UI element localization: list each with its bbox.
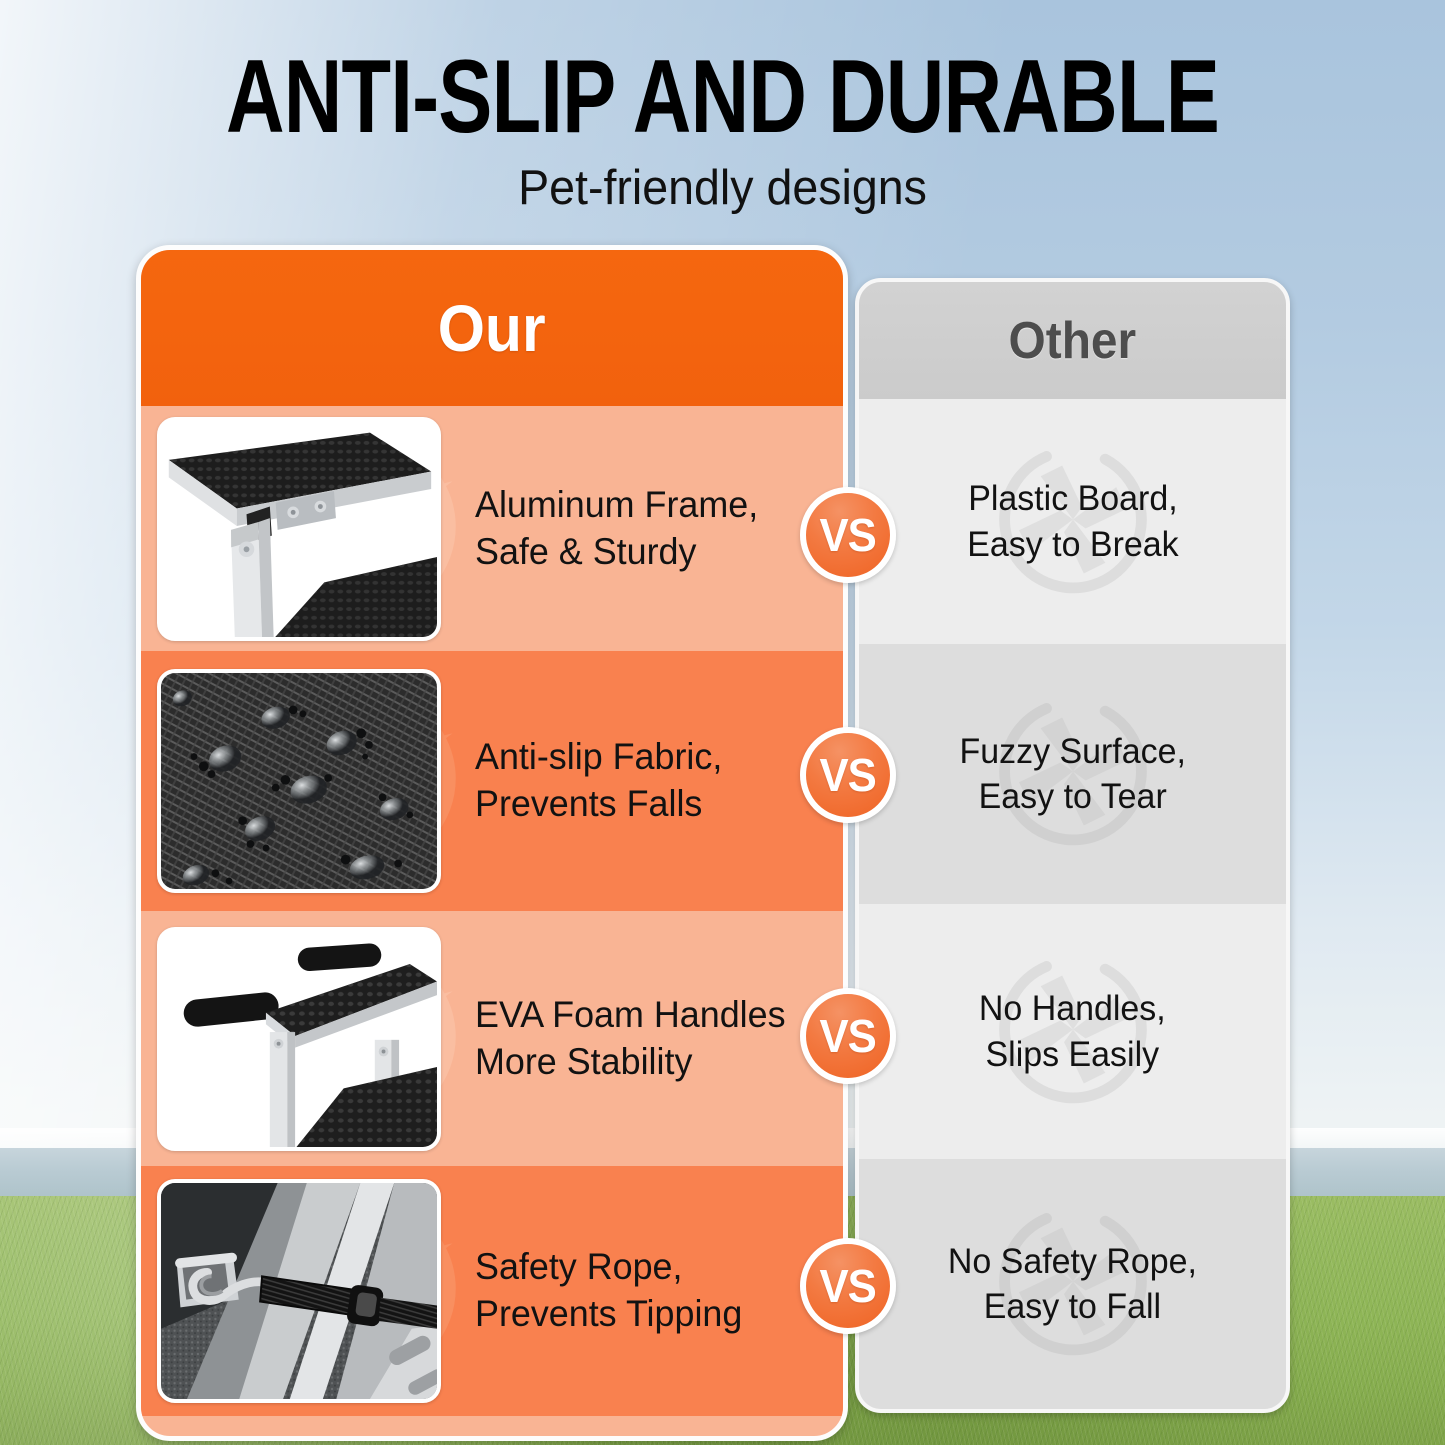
our-row: EVA Foam Handles More Stability xyxy=(141,911,843,1166)
safety-rope-carabiner-photo xyxy=(161,1183,437,1399)
vs-badge-label: VS xyxy=(820,748,876,802)
our-header-label: Our xyxy=(438,290,546,366)
other-row-text: Fuzzy Surface, Easy to Tear xyxy=(959,729,1185,820)
other-rows: Plastic Board, Easy to Break Fuzzy Surfa… xyxy=(859,399,1286,1409)
vs-badge: VS xyxy=(800,1238,896,1334)
vs-badge-label: VS xyxy=(820,508,876,562)
infographic-canvas: ANTI-SLIP AND DURABLE Pet-friendly desig… xyxy=(0,0,1445,1445)
other-row-text: Plastic Board, Easy to Break xyxy=(967,476,1178,567)
our-row-text: EVA Foam Handles More Stability xyxy=(475,992,786,1085)
our-row-text: Aluminum Frame, Safe & Sturdy xyxy=(475,482,758,575)
other-row: Fuzzy Surface, Easy to Tear xyxy=(859,644,1286,904)
row-thumbnail xyxy=(157,1179,441,1403)
vs-badge-label: VS xyxy=(820,1259,876,1313)
other-row: No Handles, Slips Easily xyxy=(859,904,1286,1159)
anti-slip-fabric-waterdrops-photo xyxy=(161,673,437,889)
other-header-label: Other xyxy=(1009,311,1137,371)
row-thumbnail xyxy=(157,417,441,641)
other-row-text: No Safety Rope, Easy to Fall xyxy=(948,1239,1197,1330)
page-title: ANTI-SLIP AND DURABLE xyxy=(159,44,1286,150)
our-panel-header: Our xyxy=(141,250,843,406)
other-row: No Safety Rope, Easy to Fall xyxy=(859,1159,1286,1409)
our-row: Aluminum Frame, Safe & Sturdy xyxy=(141,406,843,651)
other-panel-header: Other xyxy=(859,282,1286,399)
our-rows: Aluminum Frame, Safe & Sturdy xyxy=(141,406,843,1416)
our-row: Anti-slip Fabric, Prevents Falls xyxy=(141,651,843,911)
vs-badge: VS xyxy=(800,988,896,1084)
our-row-text: Safety Rope, Prevents Tipping xyxy=(475,1244,742,1337)
our-row-text: Anti-slip Fabric, Prevents Falls xyxy=(475,734,722,827)
our-row: Safety Rope, Prevents Tipping xyxy=(141,1166,843,1416)
other-row-text: No Handles, Slips Easily xyxy=(979,986,1166,1077)
vs-badge-label: VS xyxy=(820,1009,876,1063)
our-panel: Our xyxy=(136,245,848,1441)
page-subtitle: Pet-friendly designs xyxy=(36,160,1409,216)
aluminum-frame-corner-photo xyxy=(161,421,437,637)
row-thumbnail xyxy=(157,927,441,1151)
other-panel: Other Plastic Board, Easy to Break xyxy=(855,278,1290,1413)
eva-foam-handles-photo xyxy=(161,931,437,1147)
vs-badge: VS xyxy=(800,727,896,823)
vs-badge: VS xyxy=(800,487,896,583)
other-row: Plastic Board, Easy to Break xyxy=(859,399,1286,644)
row-thumbnail xyxy=(157,669,441,893)
